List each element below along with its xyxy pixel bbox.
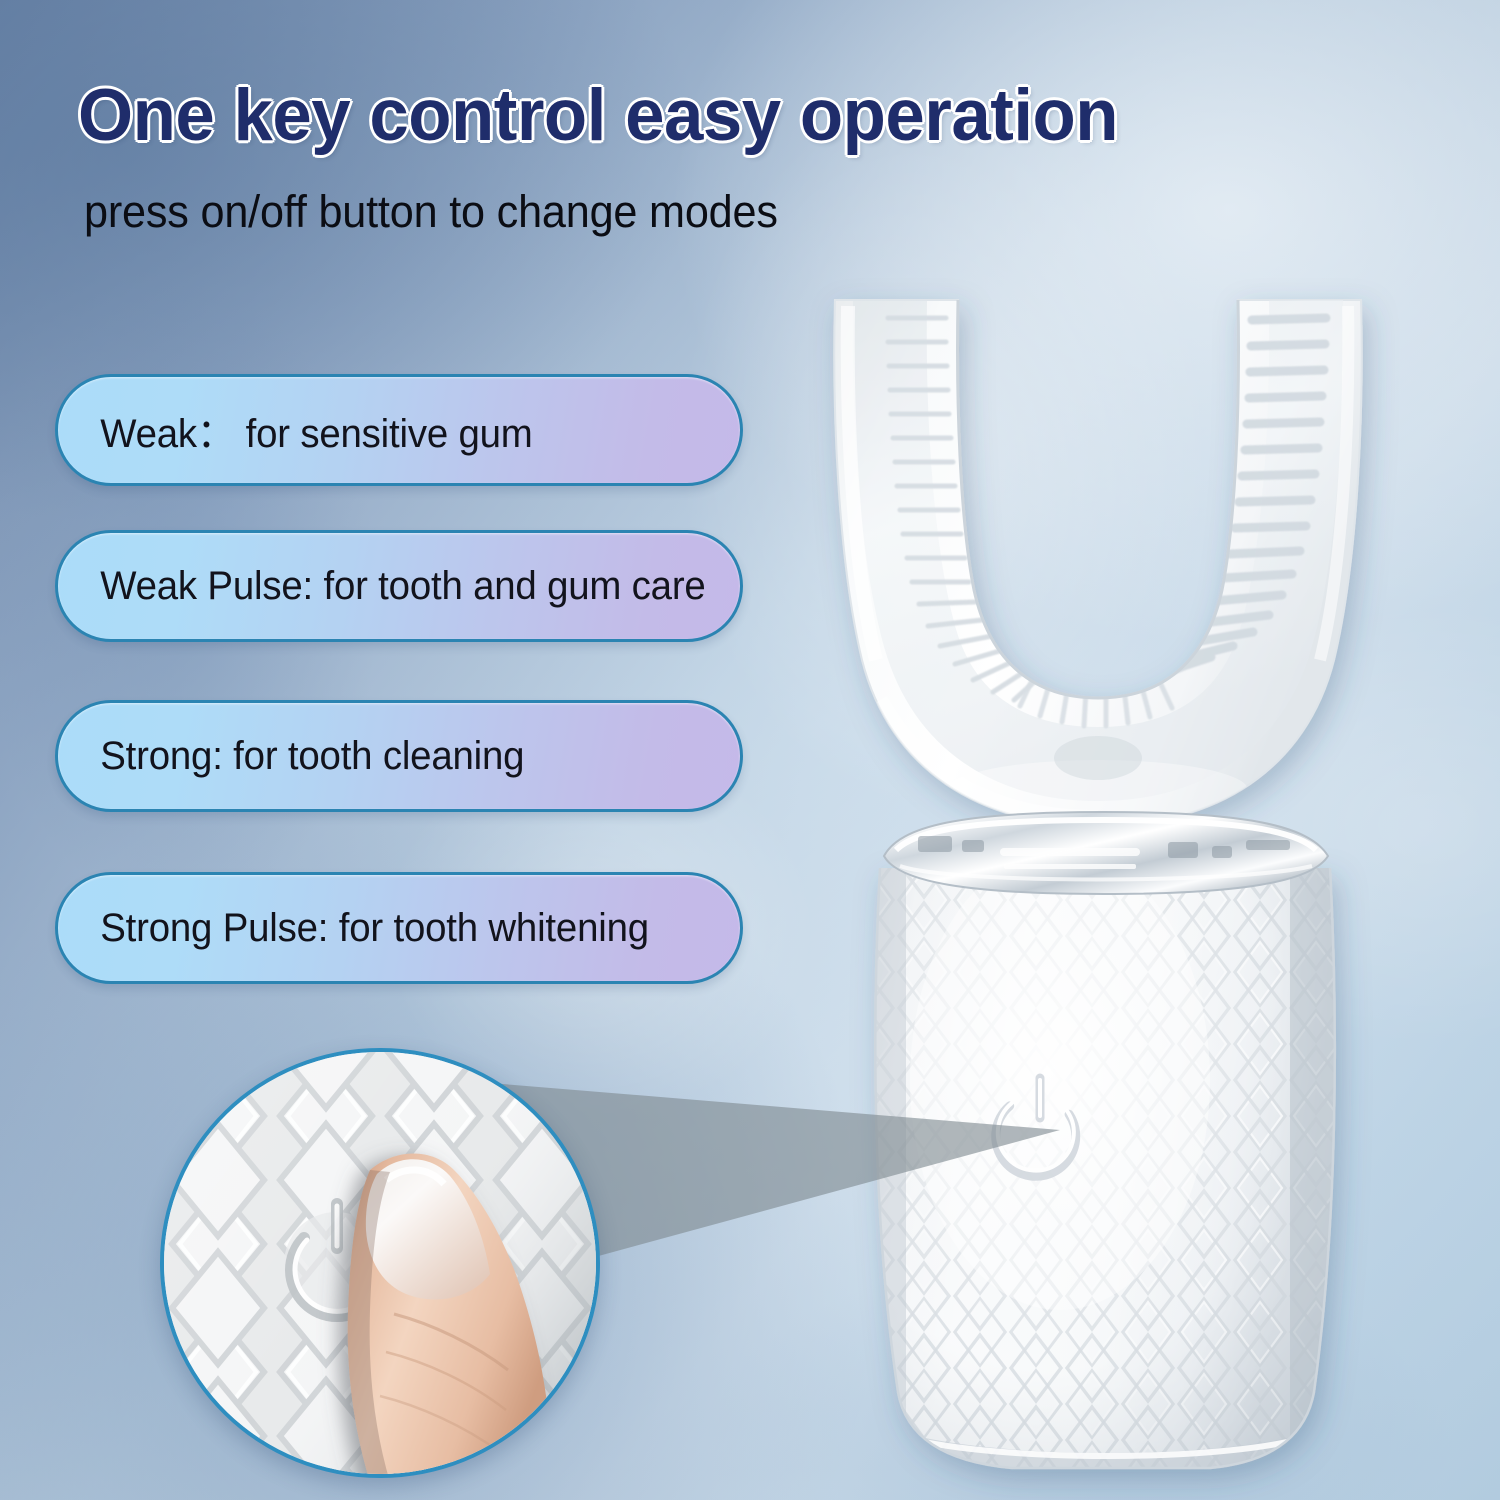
mode-pill-weak[interactable]: Weak： for sensitive gum: [55, 374, 743, 486]
mode-pill-weak-pulse[interactable]: Weak Pulse: for tooth and gum care: [55, 530, 743, 642]
mode-pill-label: Weak Pulse: for tooth and gum care: [58, 564, 706, 609]
zoom-detail-circle: [160, 1048, 600, 1478]
page-title: One key control easy operation: [78, 74, 1407, 157]
mode-pill-label: Strong Pulse: for tooth whitening: [58, 906, 649, 951]
mode-pill-strong-pulse[interactable]: Strong Pulse: for tooth whitening: [55, 872, 743, 984]
mode-pill-strong[interactable]: Strong: for tooth cleaning: [55, 700, 743, 812]
page-subtitle: press on/off button to change modes: [84, 186, 778, 238]
mode-pill-label: Weak： for sensitive gum: [58, 401, 533, 459]
product-infographic: One key control easy operation press on/…: [0, 0, 1500, 1500]
mode-pill-label: Strong: for tooth cleaning: [58, 734, 524, 779]
zoom-detail-content: [164, 1052, 596, 1474]
